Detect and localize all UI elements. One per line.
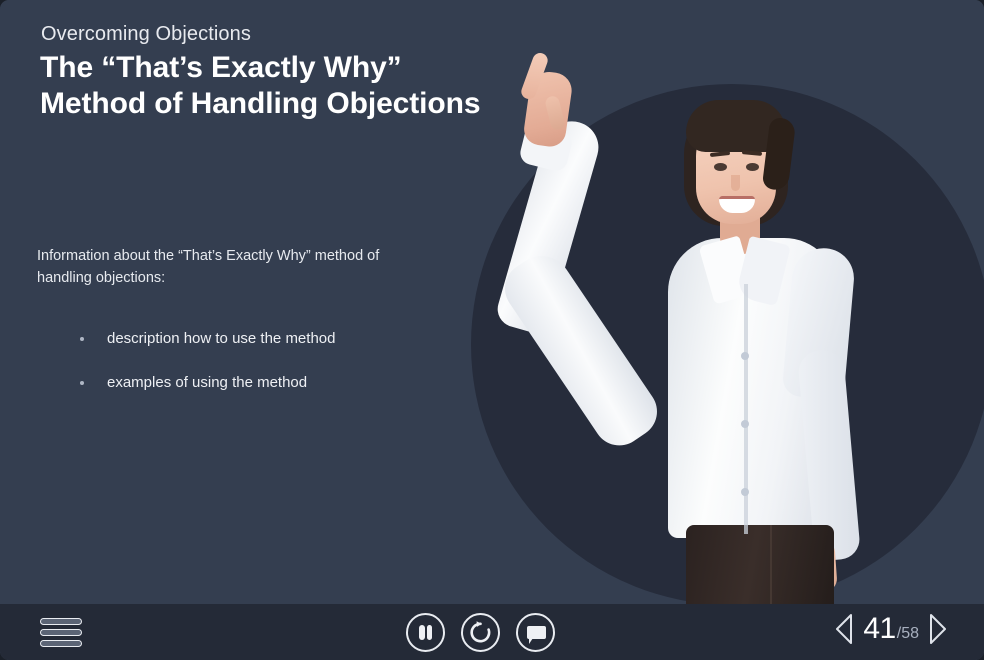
next-slide-arrow[interactable]: [928, 612, 948, 646]
presenter-eye-left: [714, 163, 727, 171]
presenter-skirt-seam: [770, 525, 772, 604]
slide-eyebrow: Overcoming Objections: [41, 21, 251, 47]
replay-button[interactable]: [461, 613, 500, 652]
notes-button[interactable]: [516, 613, 555, 652]
slide-pager: 41 /58: [834, 612, 948, 646]
player-control-bar: 41 /58: [0, 604, 984, 660]
course-player: Overcoming Objections The “That’s Exactl…: [0, 0, 984, 660]
list-item: description how to use the method: [78, 328, 478, 350]
presenter-blouse-button: [741, 352, 749, 360]
transport-controls: [406, 613, 555, 652]
presenter-blouse-button: [741, 488, 749, 496]
slide-bullet-list: description how to use the method exampl…: [78, 328, 478, 416]
list-item: examples of using the method: [78, 372, 478, 394]
presenter-blouse-button: [741, 420, 749, 428]
previous-slide-arrow[interactable]: [834, 612, 854, 646]
menu-bar: [40, 629, 82, 636]
total-slide-count: /58: [897, 625, 919, 643]
list-item-label: description how to use the method: [107, 330, 335, 347]
pause-icon: [427, 625, 433, 640]
slide-title: The “That’s Exactly Why” Method of Handl…: [40, 50, 510, 122]
menu-icon[interactable]: [40, 618, 82, 648]
list-item-label: examples of using the method: [107, 374, 307, 391]
slide-counter: 41 /58: [863, 614, 919, 644]
presenter-photo: [470, 0, 984, 604]
presenter-eye-right: [746, 163, 759, 171]
speech-bubble-icon: [527, 626, 546, 639]
current-slide-number: 41: [863, 614, 895, 644]
menu-bar: [40, 618, 82, 625]
presenter-blouse-placket: [744, 284, 748, 534]
pause-button[interactable]: [406, 613, 445, 652]
pause-icon: [419, 625, 425, 640]
presenter-nose: [731, 175, 740, 191]
slide-stage: Overcoming Objections The “That’s Exactl…: [0, 0, 984, 604]
presenter-skirt: [686, 525, 834, 604]
menu-bar: [40, 640, 82, 647]
replay-icon: [463, 615, 498, 650]
presenter-forearm-sleeve: [495, 244, 667, 455]
bullet-dot-icon: [80, 381, 84, 385]
bullet-dot-icon: [80, 337, 84, 341]
slide-body-text: Information about the “That’s Exactly Wh…: [37, 245, 437, 289]
